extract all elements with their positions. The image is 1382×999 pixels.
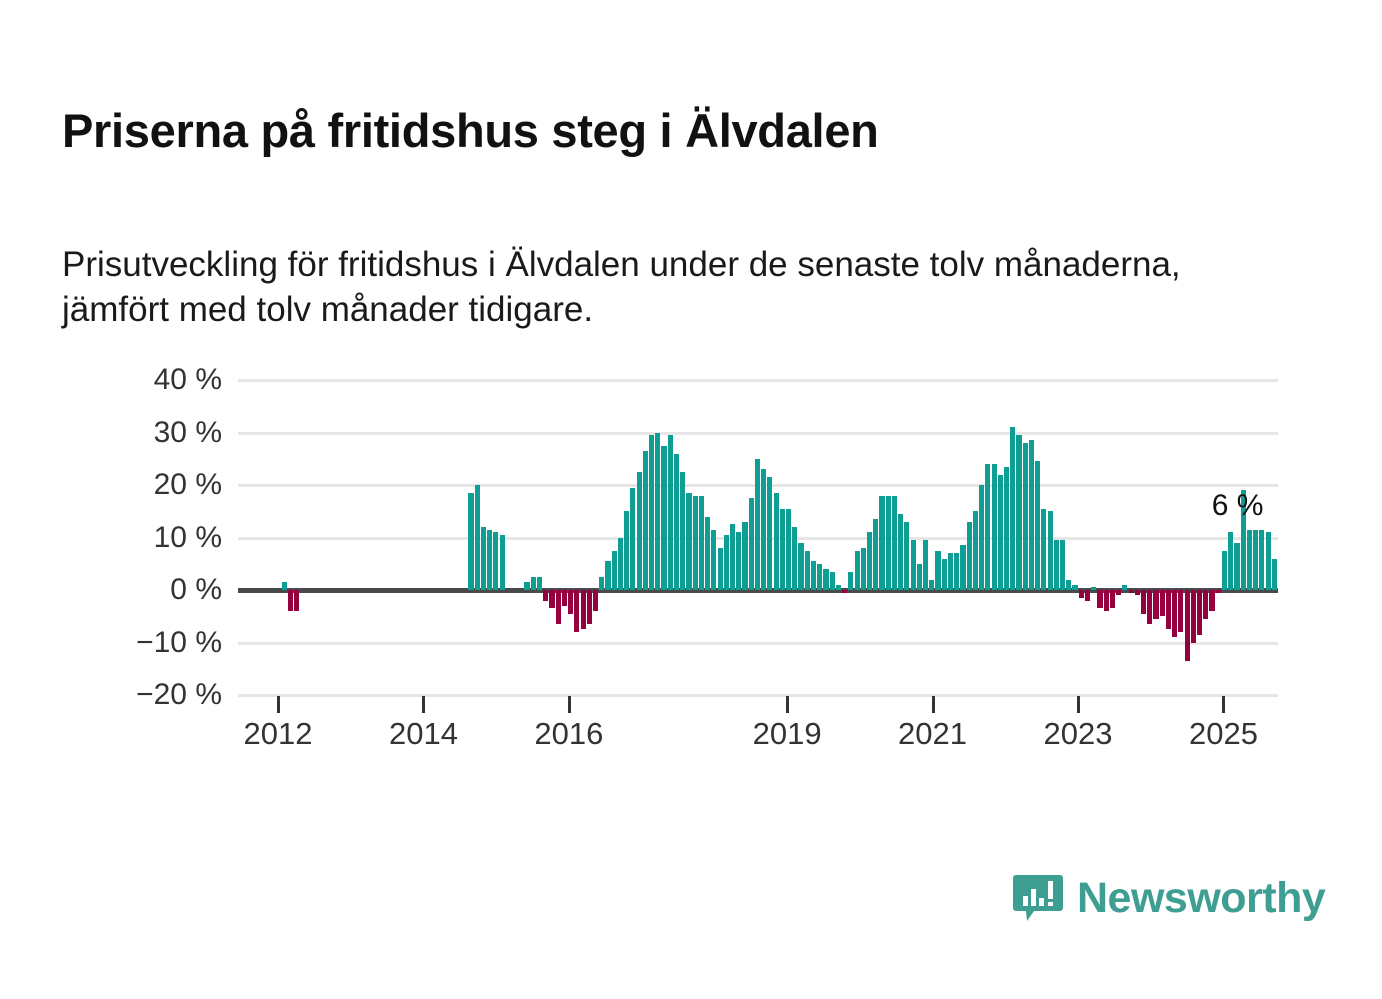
bar: [599, 577, 604, 590]
bar: [1091, 587, 1096, 590]
bar: [1048, 511, 1053, 590]
bar: [780, 509, 785, 590]
bar: [1060, 540, 1065, 590]
bar: [942, 559, 947, 591]
logo-wordmark: Newsworthy: [1077, 874, 1325, 923]
page-subtitle: Prisutveckling för fritidshus i Älvdalen…: [62, 243, 1292, 333]
x-axis-tick-label: 2019: [753, 716, 822, 752]
y-axis-tick-label: 40 %: [62, 363, 222, 397]
bar: [487, 530, 492, 590]
bar: [1129, 590, 1134, 593]
bar: [668, 435, 673, 590]
bar: [979, 485, 984, 590]
bar: [624, 511, 629, 590]
y-axis-tick-label: −20 %: [62, 678, 222, 712]
bar: [531, 577, 536, 590]
x-axis-tick-label: 2021: [898, 716, 967, 752]
bar: [917, 564, 922, 590]
bar: [630, 488, 635, 590]
bar: [1153, 590, 1158, 619]
x-axis-tick-label: 2012: [244, 716, 313, 752]
bar: [1234, 543, 1239, 590]
x-axis-tick-label: 2025: [1189, 716, 1258, 752]
bar: [1029, 440, 1034, 590]
bar: [898, 514, 903, 590]
bar: [294, 590, 299, 611]
bar: [1216, 590, 1221, 593]
bar: [867, 532, 872, 590]
bar: [973, 511, 978, 590]
bar: [1141, 590, 1146, 614]
bar: [661, 446, 666, 590]
bar: [749, 498, 754, 590]
bar: [581, 590, 586, 629]
y-axis-tick-label: 30 %: [62, 416, 222, 450]
bar: [1035, 461, 1040, 590]
x-axis-tick: [932, 696, 935, 713]
bar: [1272, 559, 1277, 591]
bar: [655, 433, 660, 591]
bar: [1228, 532, 1233, 590]
bar: [1259, 530, 1264, 590]
x-axis-tick-label: 2023: [1044, 716, 1113, 752]
bar: [929, 580, 934, 591]
y-axis-tick-label: 0 %: [62, 573, 222, 607]
bar: [823, 569, 828, 590]
bar: [960, 545, 965, 590]
bar: [1209, 590, 1214, 611]
bar: [817, 564, 822, 590]
bar: [1054, 540, 1059, 590]
bar: [612, 551, 617, 590]
bar: [730, 524, 735, 590]
bar: [1110, 590, 1115, 608]
bar: [923, 540, 928, 590]
bar: [1135, 590, 1140, 595]
bar: [911, 540, 916, 590]
x-axis-tick: [422, 696, 425, 713]
bar: [861, 548, 866, 590]
x-axis-tick: [568, 696, 571, 713]
bar: [524, 582, 529, 590]
bar: [618, 538, 623, 591]
bar: [643, 451, 648, 590]
bar: [1072, 585, 1077, 590]
y-axis-tick-label: 10 %: [62, 521, 222, 555]
bar: [493, 532, 498, 590]
y-axis-tick-label: −10 %: [62, 626, 222, 660]
bar: [998, 475, 1003, 591]
bar: [1191, 590, 1196, 643]
bar: [593, 590, 598, 611]
bar: [543, 590, 548, 601]
bar: [755, 459, 760, 590]
bar: [711, 530, 716, 590]
bar: [475, 485, 480, 590]
bar: [1178, 590, 1183, 632]
bar: [605, 561, 610, 590]
bar: [1116, 590, 1121, 595]
bar: [836, 585, 841, 590]
bar: [288, 590, 293, 611]
bar-series: [238, 380, 1278, 695]
bar: [879, 496, 884, 591]
bar: [1097, 590, 1102, 608]
bar: [736, 532, 741, 590]
bar: [693, 496, 698, 591]
bar: [1253, 530, 1258, 590]
bar: [1266, 532, 1271, 590]
bar: [1247, 530, 1252, 590]
bar: [855, 551, 860, 590]
bar: [686, 493, 691, 590]
bar: [1197, 590, 1202, 635]
bar: [848, 572, 853, 590]
bar: [1016, 435, 1021, 590]
bar: [992, 464, 997, 590]
bar: [500, 535, 505, 590]
bar: [985, 464, 990, 590]
bar: [805, 551, 810, 590]
bar: [830, 572, 835, 590]
bar: [1104, 590, 1109, 611]
bar: [948, 553, 953, 590]
bar: [1023, 443, 1028, 590]
bar: [1010, 427, 1015, 590]
bar: [954, 553, 959, 590]
bar: [637, 472, 642, 590]
bar: [761, 469, 766, 590]
bar: [1122, 585, 1127, 590]
bar: [574, 590, 579, 632]
bar: [904, 522, 909, 590]
bar: [786, 509, 791, 590]
bar: [718, 548, 723, 590]
bar: [873, 519, 878, 590]
newsworthy-logo: Newsworthy: [1012, 872, 1325, 924]
bar: [842, 590, 847, 593]
bar: [699, 496, 704, 591]
bar: [1066, 580, 1071, 591]
bar: [649, 435, 654, 590]
bar: [1085, 590, 1090, 601]
bar: [1172, 590, 1177, 637]
bar: [549, 590, 554, 608]
x-axis-tick: [786, 696, 789, 713]
bar: [1222, 551, 1227, 590]
bar: [935, 551, 940, 590]
bar: [1203, 590, 1208, 619]
bar: [774, 493, 779, 590]
bar-chart-speech-bubble-icon: [1012, 872, 1064, 924]
bar: [705, 517, 710, 591]
x-axis-tick: [1222, 696, 1225, 713]
bar: [1079, 590, 1084, 598]
bar: [798, 543, 803, 590]
bar: [468, 493, 473, 590]
bar: [767, 477, 772, 590]
bar-chart: 40 %30 %20 %10 %0 %−10 %−20 % 2012201420…: [238, 380, 1278, 695]
bar: [892, 496, 897, 591]
last-value-annotation: 6 %: [1212, 489, 1264, 523]
bar: [282, 582, 287, 590]
bar: [967, 522, 972, 590]
bar: [1166, 590, 1171, 629]
bar: [674, 454, 679, 591]
x-axis-tick-label: 2014: [389, 716, 458, 752]
bar: [742, 522, 747, 590]
bar: [680, 472, 685, 590]
bar: [724, 535, 729, 590]
bar: [1041, 509, 1046, 590]
bar: [481, 527, 486, 590]
bar: [792, 527, 797, 590]
bar: [556, 590, 561, 624]
bar: [886, 496, 891, 591]
bar: [568, 590, 573, 614]
chart-page: Priserna på fritidshus steg i Älvdalen P…: [0, 0, 1382, 999]
bar: [1147, 590, 1152, 624]
bar: [537, 577, 542, 590]
bar: [587, 590, 592, 624]
page-title: Priserna på fritidshus steg i Älvdalen: [62, 103, 879, 158]
bar: [811, 561, 816, 590]
bar: [1185, 590, 1190, 661]
y-axis-tick-label: 20 %: [62, 468, 222, 502]
x-axis-tick-label: 2016: [534, 716, 603, 752]
x-axis-tick: [1077, 696, 1080, 713]
x-axis-tick: [277, 696, 280, 713]
bar: [562, 590, 567, 606]
bar: [1004, 467, 1009, 590]
bar: [1160, 590, 1165, 616]
